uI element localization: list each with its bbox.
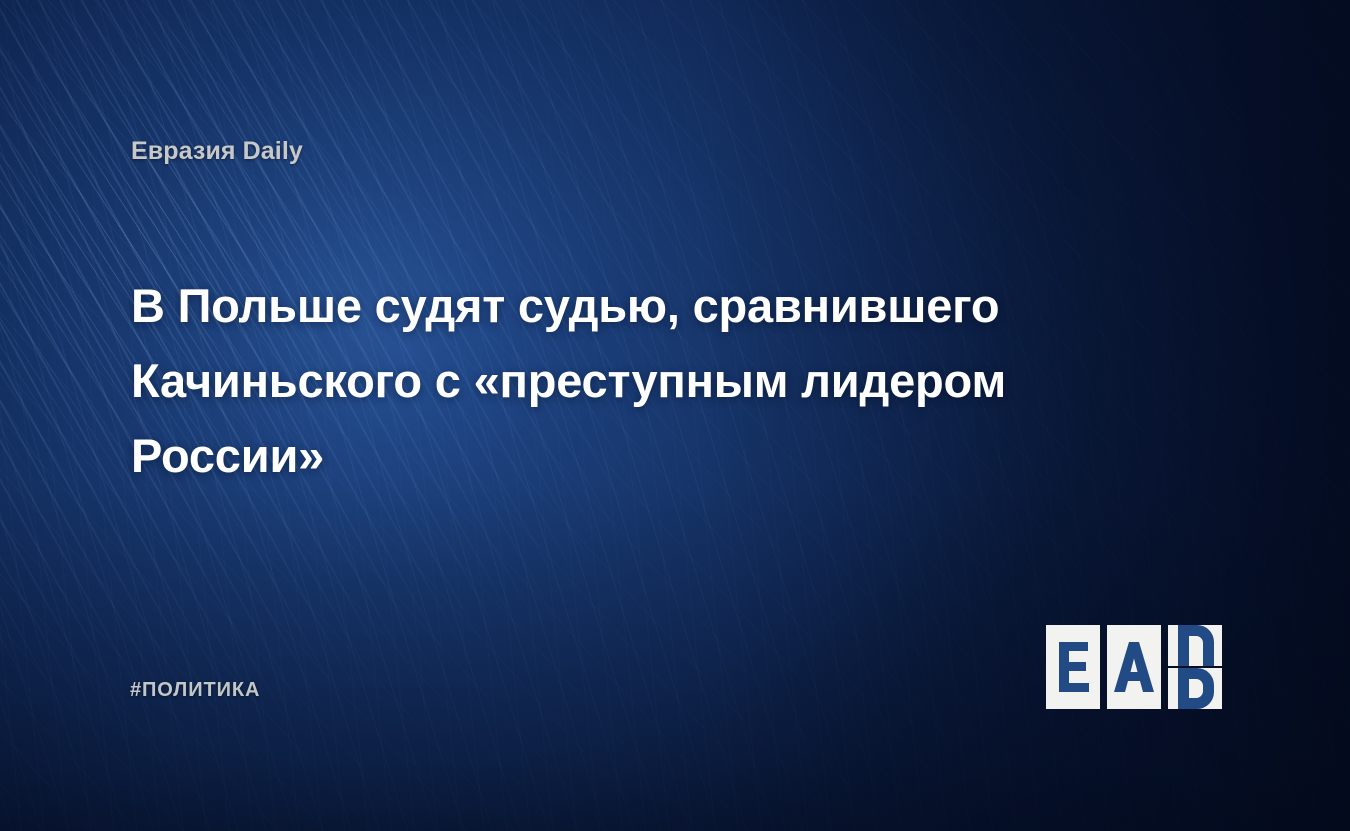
page-title: В Польше судят судью, сравнившего Качинь… <box>131 268 1161 493</box>
category-tag: #ПОЛИТИКА <box>130 679 260 702</box>
brand-name: Евразия Daily <box>131 137 303 166</box>
news-card: Евразия Daily В Польше судят судью, срав… <box>0 0 1350 831</box>
logo-tile-d-bottom <box>1168 668 1222 709</box>
eadaily-logo <box>1046 625 1222 709</box>
logo-tile-d-top <box>1168 625 1222 666</box>
card-content: Евразия Daily В Польше судят судью, срав… <box>0 0 1350 831</box>
letter-a-icon <box>1114 642 1154 692</box>
letter-e-icon <box>1056 642 1090 692</box>
logo-tile-d <box>1168 625 1222 709</box>
logo-tile-e <box>1046 625 1100 709</box>
logo-tile-a <box>1107 625 1161 709</box>
